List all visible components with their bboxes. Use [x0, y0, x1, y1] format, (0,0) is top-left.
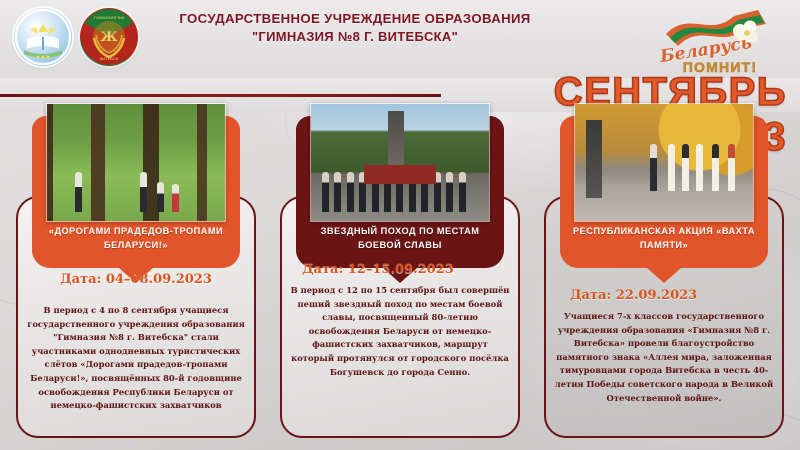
memorial-cleanup-photo — [575, 104, 753, 221]
poster-root: Ж ГИМНАЗИЯ №8 ВИТЕБСК ГОСУДАРСТВЕННОЕ УЧ… — [0, 0, 800, 450]
war-memorial-group-photo — [311, 104, 489, 221]
card-title: «ДОРОГАМИ ПРАДЕДОВ-ТРОПАМИ БЕЛАРУСИ!» — [42, 225, 230, 252]
card-body: В период с 4 по 8 сентября учащиеся госу… — [26, 304, 246, 413]
card-title: РЕСПУБЛИКАНСКАЯ АКЦИЯ «ВАХТА ПАМЯТИ» — [570, 225, 758, 252]
card-photo — [46, 103, 226, 222]
card-photo — [310, 103, 490, 222]
cards-container: «ДОРОГАМИ ПРАДЕДОВ-ТРОПАМИ БЕЛАРУСИ!» Да… — [0, 0, 800, 450]
card-date: Дата: 12–15.09.2023 — [294, 262, 506, 277]
card-date: Дата: 04–08.09.2023 — [30, 272, 242, 287]
card-photo — [574, 103, 754, 222]
photo-people — [311, 172, 489, 212]
event-card[interactable]: РЕСПУБЛИКАНСКАЯ АКЦИЯ «ВАХТА ПАМЯТИ» Дат… — [544, 196, 784, 438]
photo-people — [47, 172, 225, 212]
event-card[interactable]: «ДОРОГАМИ ПРАДЕДОВ-ТРОПАМИ БЕЛАРУСИ!» Да… — [16, 196, 256, 438]
photo-people — [575, 144, 753, 191]
card-date: Дата: 22.09.2023 — [558, 288, 770, 303]
card-body: В период с 12 по 15 сентября был совершё… — [290, 284, 510, 379]
banner-notch — [647, 268, 681, 283]
forest-hike-photo — [47, 104, 225, 221]
card-title: ЗВЕЗДНЫЙ ПОХОД ПО МЕСТАМ БОЕВОЙ СЛАВЫ — [306, 225, 494, 252]
event-card[interactable]: ЗВЕЗДНЫЙ ПОХОД ПО МЕСТАМ БОЕВОЙ СЛАВЫ Да… — [280, 196, 520, 438]
card-body: Учащиеся 7-х классов государственного уч… — [554, 310, 774, 405]
